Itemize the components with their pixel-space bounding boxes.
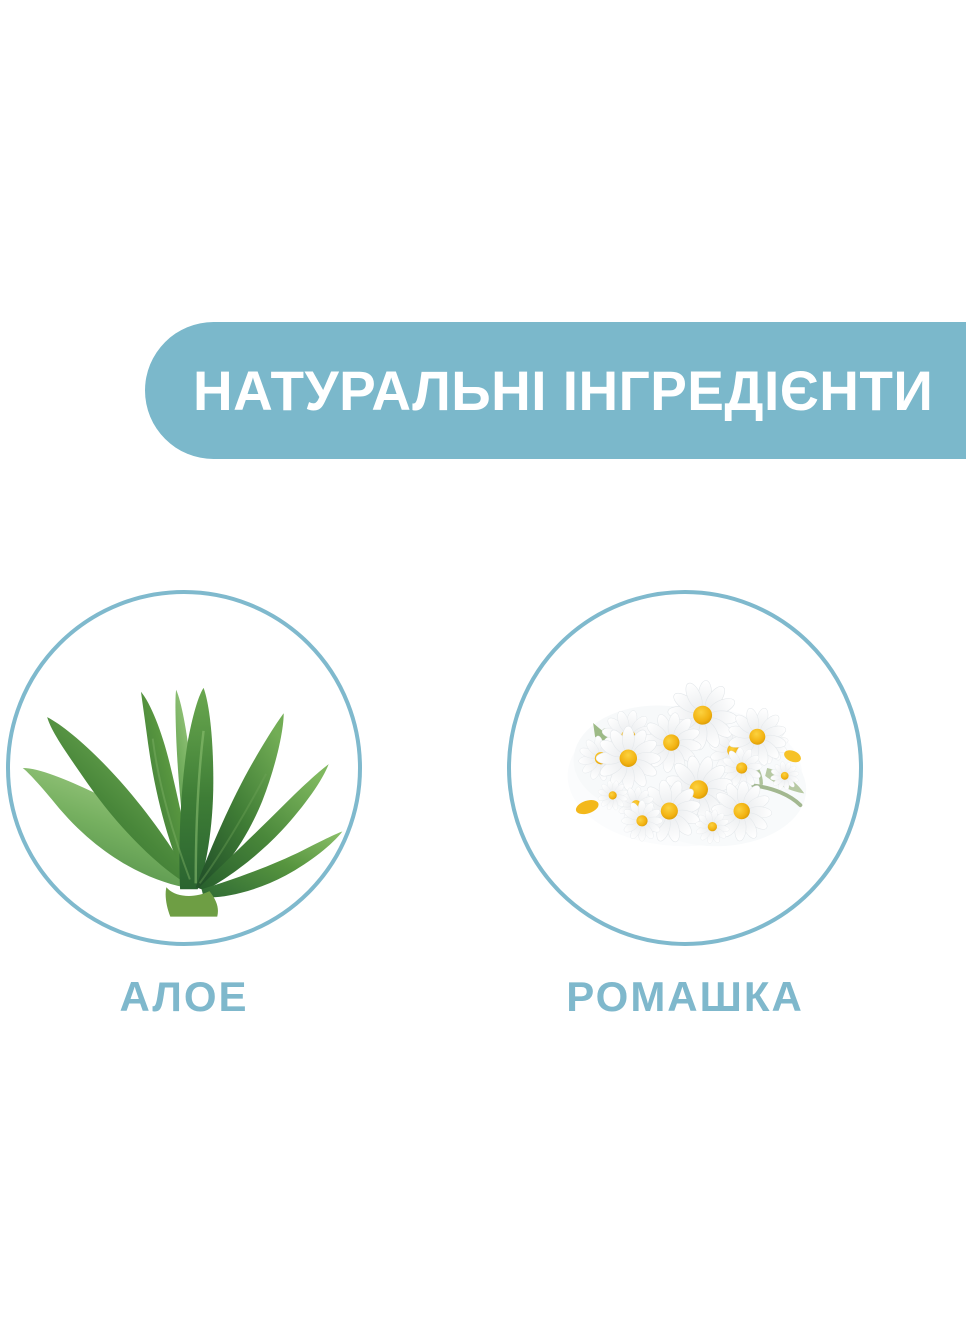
ingredient-label-chamomile: РОМАШКА	[507, 976, 863, 1018]
ingredient-card-chamomile: РОМАШКА	[507, 590, 867, 1050]
aloe-image-circle	[6, 590, 362, 946]
banner-title: НАТУРАЛЬНІ ІНГРЕДІЄНТИ	[193, 363, 933, 419]
ingredient-card-aloe: АЛОЕ	[6, 590, 366, 1050]
chamomile-image-circle	[507, 590, 863, 946]
ingredient-label-aloe: АЛОЕ	[6, 976, 362, 1018]
ingredients-row: АЛОЕ	[0, 590, 966, 1050]
natural-ingredients-banner: НАТУРАЛЬНІ ІНГРЕДІЄНТИ	[145, 322, 966, 459]
chamomile-flowers-photo	[511, 594, 859, 942]
aloe-vera-plant-photo	[10, 594, 358, 942]
